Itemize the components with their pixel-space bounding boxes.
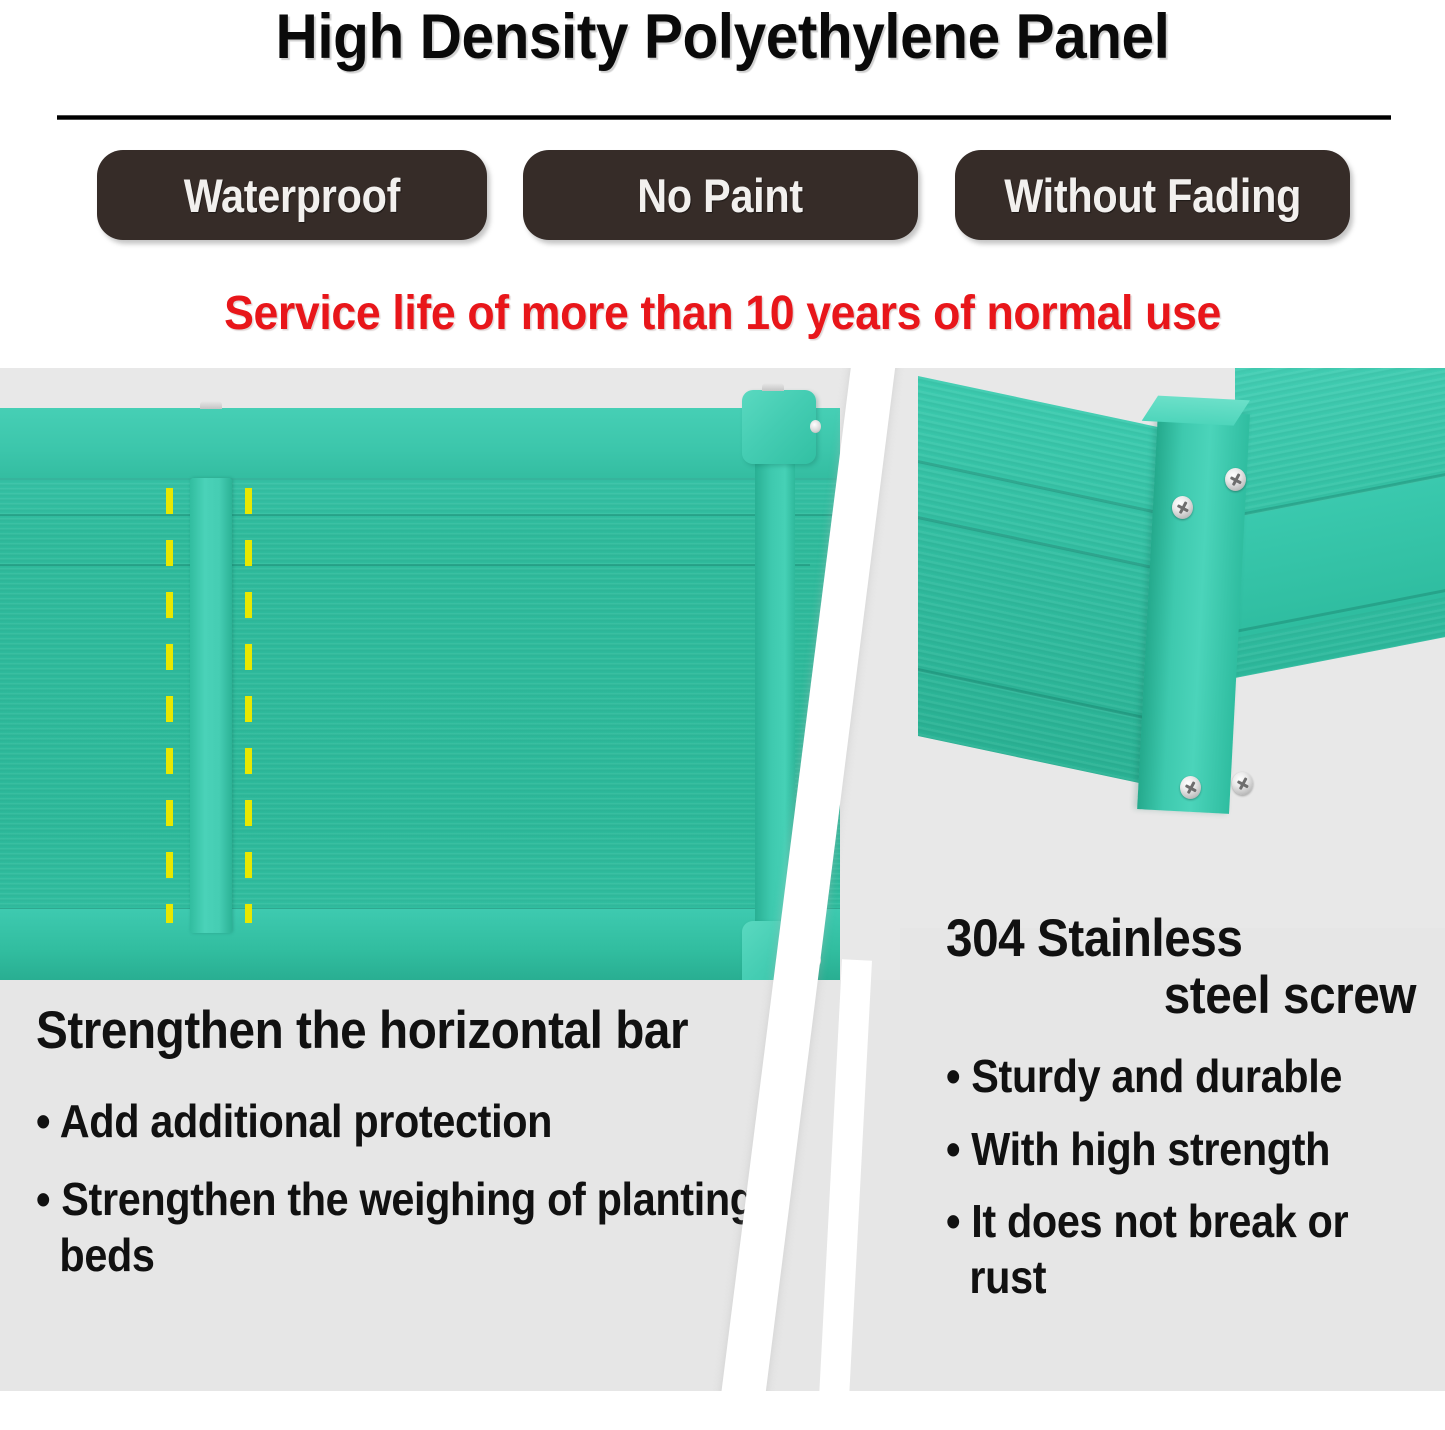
corner-post-top-face bbox=[1142, 396, 1250, 426]
board-seam-line bbox=[0, 514, 840, 516]
list-item: • Add additional protection bbox=[36, 1093, 756, 1149]
stainless-screw-icon bbox=[1180, 776, 1201, 799]
planter-back-wall bbox=[0, 408, 840, 480]
badge-no-paint-label: No Paint bbox=[638, 168, 804, 223]
badge-waterproof[interactable]: Waterproof bbox=[97, 150, 487, 240]
badge-without-fading[interactable]: Without Fading bbox=[955, 150, 1350, 240]
planter-front-rail bbox=[0, 909, 840, 986]
planter-topdown-photo bbox=[0, 368, 900, 988]
planter-interior-panel bbox=[0, 408, 840, 986]
stainless-screw-icon bbox=[1172, 496, 1193, 519]
right-feature-heading-line-2: steel screw bbox=[993, 967, 1416, 1024]
top-peg bbox=[200, 401, 222, 409]
left-feature-heading: Strengthen the horizontal bar bbox=[36, 1002, 756, 1059]
list-item: • Sturdy and durable bbox=[946, 1048, 1369, 1104]
right-feature-heading-line-1: 304 Stainless bbox=[946, 910, 1369, 967]
board-seam-line bbox=[0, 564, 810, 566]
yellow-callout-dash-right bbox=[245, 488, 252, 923]
page-title: High Density Polyethylene Panel bbox=[51, 4, 1395, 70]
corner-screw-detail-photo bbox=[900, 368, 1445, 928]
top-peg bbox=[762, 383, 784, 391]
stainless-screw-icon bbox=[1232, 772, 1253, 795]
list-item: • With high strength bbox=[946, 1121, 1369, 1177]
list-item: • It does not break or rust bbox=[946, 1193, 1369, 1305]
yellow-callout-dash-left bbox=[166, 488, 173, 923]
left-feature-bullet-list: • Add additional protection • Strengthen… bbox=[36, 1093, 836, 1283]
stainless-screw-icon bbox=[1225, 468, 1246, 491]
title-divider-rule bbox=[57, 115, 1391, 120]
badge-without-fading-label: Without Fading bbox=[1004, 168, 1301, 223]
right-feature-bullet-list: • Sturdy and durable • With high strengt… bbox=[946, 1048, 1416, 1304]
feature-text-zone: Strengthen the horizontal bar • Add addi… bbox=[0, 980, 1445, 1391]
right-feature-column: 304 Stainless steel screw • Sturdy and d… bbox=[946, 910, 1416, 1321]
left-feature-column: Strengthen the horizontal bar • Add addi… bbox=[36, 1002, 836, 1306]
feature-badge-row: Waterproof No Paint Without Fading bbox=[0, 150, 1445, 245]
badge-waterproof-label: Waterproof bbox=[184, 168, 400, 223]
header-section: High Density Polyethylene Panel Waterpro… bbox=[0, 0, 1445, 368]
service-life-tagline: Service life of more than 10 years of no… bbox=[51, 286, 1395, 341]
horizontal-support-bar bbox=[190, 478, 232, 933]
corner-screw-icon bbox=[810, 420, 821, 433]
list-item: • Strengthen the weighing of planting be… bbox=[36, 1171, 756, 1283]
badge-no-paint[interactable]: No Paint bbox=[523, 150, 918, 240]
corner-post-top bbox=[742, 390, 816, 464]
